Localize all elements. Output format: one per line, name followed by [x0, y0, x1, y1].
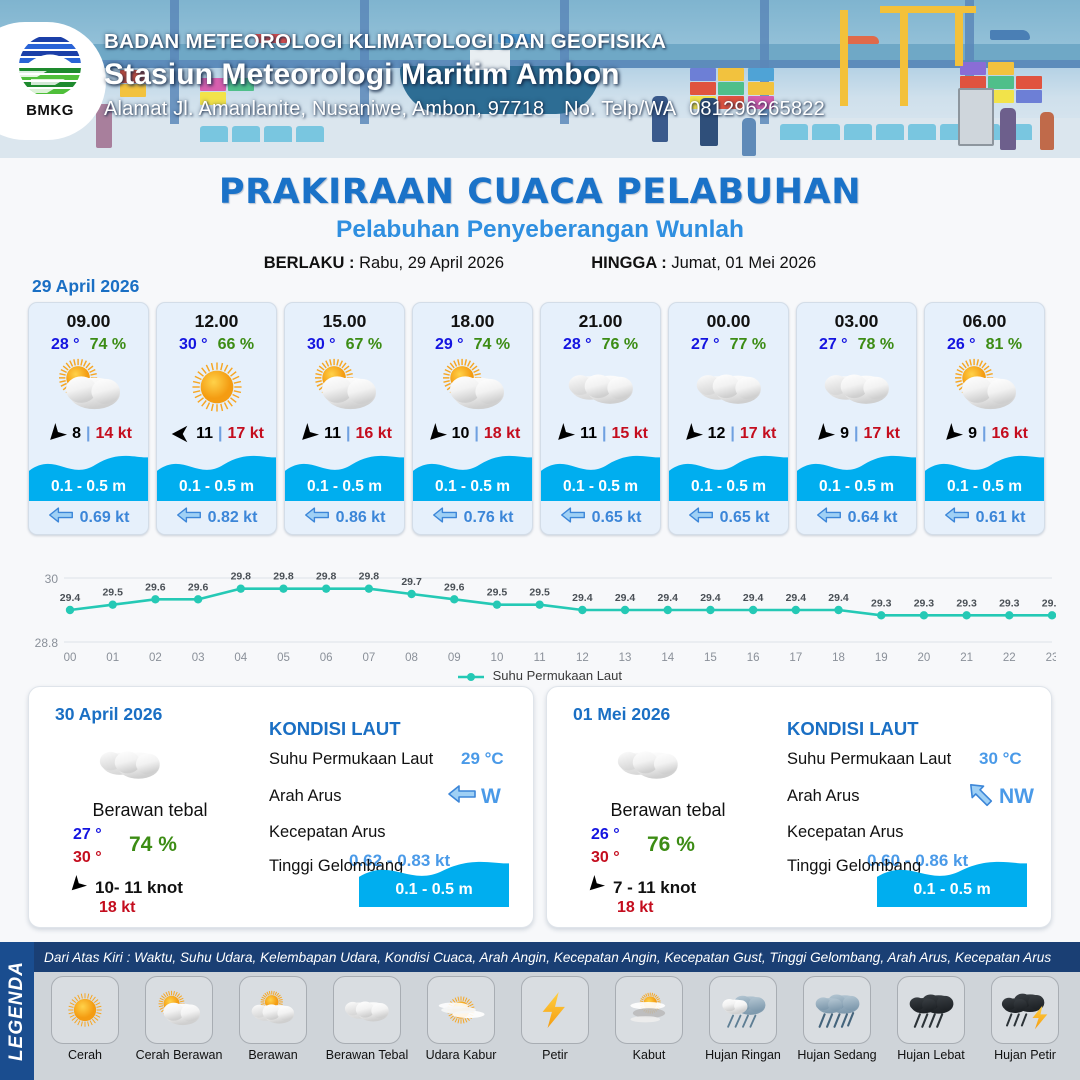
svg-text:07: 07: [362, 652, 375, 664]
weather-cloud-icon: [797, 356, 916, 418]
waiting-chair: [780, 124, 808, 140]
legend-item: Berawan: [228, 976, 318, 1080]
panel-temp-max: 30 °: [73, 849, 102, 867]
wind-gust: 16 kt: [991, 425, 1027, 443]
card-wind: 11 | 17 kt: [157, 419, 276, 449]
weather-rain-storm-icon: [991, 976, 1059, 1044]
current-speed: 0.86 kt: [336, 509, 386, 527]
legend-item-label: Berawan Tebal: [326, 1048, 408, 1062]
valid-from-label: BERLAKU :: [264, 254, 355, 272]
infographic-page: BMKG BADAN METEOROLOGI KLIMATOLOGI DAN G…: [0, 0, 1080, 1080]
legend-icon-row: Cerah Cerah Berawan Berawan Berawan Teba…: [40, 976, 1074, 1080]
current-direction-value: W: [481, 785, 501, 809]
wind-gust: 18 kt: [484, 425, 520, 443]
svg-text:28.8: 28.8: [35, 636, 59, 650]
current-direction-arrow-icon: [688, 505, 714, 530]
hourly-date: 29 April 2026: [32, 276, 139, 297]
weather-cloud-icon: [541, 356, 660, 418]
current-direction-label: Arah Arus: [269, 787, 341, 806]
legend-sidebar: LEGENDA: [0, 942, 34, 1080]
weather-cloud-icon: [87, 735, 173, 791]
wind-direction-arrow-icon: [297, 423, 319, 445]
current-direction-arrow-icon: [816, 505, 842, 530]
current-speed: 0.65 kt: [720, 509, 770, 527]
card-wave: 0.1 - 0.5 m: [669, 449, 788, 501]
hourly-card: 03.00 27 ° 78 % 9 | 17 kt 0.1 - 0.5 m 0.…: [796, 302, 917, 535]
weather-cloud-icon: [333, 976, 401, 1044]
svg-text:08: 08: [405, 652, 418, 664]
agency-name: BADAN METEOROLOGI KLIMATOLOGI DAN GEOFIS…: [104, 30, 825, 54]
weather-cloud-icon: [669, 356, 788, 418]
page-header: BMKG BADAN METEOROLOGI KLIMATOLOGI DAN G…: [0, 0, 1080, 158]
svg-text:17: 17: [789, 652, 802, 664]
card-temperature: 27 °: [691, 336, 720, 354]
legend-item-label: Hujan Petir: [994, 1048, 1056, 1062]
wind-separator: |: [86, 425, 90, 443]
wave-height-value: 0.1 - 0.5 m: [359, 881, 509, 899]
weather-rain-light-icon: [709, 976, 777, 1044]
wind-separator: |: [982, 425, 986, 443]
card-temperature: 27 °: [819, 336, 848, 354]
legend-item: Cerah Berawan: [134, 976, 224, 1080]
wave-height: 0.1 - 0.5 m: [29, 478, 148, 496]
svg-text:16: 16: [747, 652, 760, 664]
container: [1016, 90, 1042, 103]
card-temp-humidity: 28 ° 74 %: [29, 336, 148, 354]
panel-wind-speed: 7 - 11 knot: [613, 878, 696, 898]
card-temperature: 30 °: [179, 336, 208, 354]
card-temperature: 30 °: [307, 336, 336, 354]
svg-text:29.8: 29.8: [316, 571, 337, 583]
waiting-chair: [232, 126, 260, 142]
wind-speed: 11: [324, 425, 341, 443]
weather-sun-icon: [51, 976, 119, 1044]
wave-height-graphic: 0.1 - 0.5 m: [359, 853, 509, 907]
wave-height-graphic: 0.1 - 0.5 m: [877, 853, 1027, 907]
svg-text:29.3: 29.3: [871, 597, 892, 609]
svg-text:18: 18: [832, 652, 845, 664]
svg-text:04: 04: [234, 652, 247, 664]
wind-speed: 10: [452, 425, 470, 443]
svg-text:21: 21: [960, 652, 973, 664]
waiting-chair: [264, 126, 292, 142]
wind-gust: 16 kt: [355, 425, 391, 443]
panel-wind: 10- 11 knot: [67, 875, 183, 900]
bmkg-logo-text: BMKG: [26, 102, 74, 119]
weather-sun-icon: [157, 356, 276, 418]
svg-text:29.3: 29.3: [1042, 597, 1056, 609]
card-wind: 9 | 17 kt: [797, 419, 916, 449]
svg-text:30: 30: [45, 572, 59, 586]
legend-item: Hujan Petir: [980, 976, 1070, 1080]
wind-direction-arrow-icon: [941, 423, 963, 445]
legend-note: Dari Atas Kiri : Waktu, Suhu Udara, Kele…: [44, 950, 1051, 965]
card-temp-humidity: 30 ° 66 %: [157, 336, 276, 354]
card-wave: 0.1 - 0.5 m: [29, 449, 148, 501]
person-silhouette: [1040, 112, 1054, 150]
phone-label: No. Telp/WA: [564, 98, 675, 120]
page-subtitle: Pelabuhan Penyeberangan Wunlah: [0, 216, 1080, 244]
sea-condition-heading: KONDISI LAUT: [787, 718, 919, 740]
svg-text:29.4: 29.4: [60, 592, 81, 604]
card-current: 0.69 kt: [29, 501, 148, 534]
wave-height: 0.1 - 0.5 m: [925, 478, 1044, 496]
sst-label: Suhu Permukaan Laut: [787, 750, 951, 769]
card-wind: 8 | 14 kt: [29, 419, 148, 449]
hourly-card: 18.00 29 ° 74 % 10 | 18 kt 0.1 - 0.5 m 0…: [412, 302, 533, 535]
svg-text:29.7: 29.7: [401, 576, 422, 588]
wind-direction-arrow-icon: [169, 423, 191, 445]
valid-until-value: Jumat, 01 Mei 2026: [671, 254, 816, 272]
svg-text:10: 10: [491, 652, 504, 664]
container: [960, 62, 986, 75]
wave-height: 0.1 - 0.5 m: [413, 478, 532, 496]
panel-humidity: 74 %: [129, 833, 177, 857]
card-humidity: 76 %: [602, 336, 638, 354]
wind-direction-arrow-icon: [813, 423, 835, 445]
wave-height: 0.1 - 0.5 m: [285, 478, 404, 496]
wind-separator: |: [218, 425, 222, 443]
svg-text:29.4: 29.4: [615, 592, 636, 604]
svg-text:29.6: 29.6: [444, 581, 465, 593]
wave-height: 0.1 - 0.5 m: [669, 478, 788, 496]
hourly-card: 06.00 26 ° 81 % 9 | 16 kt 0.1 - 0.5 m 0.…: [924, 302, 1045, 535]
waiting-chair: [908, 124, 936, 140]
chart-legend-label: Suhu Permukaan Laut: [493, 668, 622, 683]
svg-text:29.3: 29.3: [956, 597, 977, 609]
wind-separator: |: [474, 425, 478, 443]
card-time: 00.00: [669, 303, 788, 332]
wind-separator: |: [730, 425, 734, 443]
legend-item: Kabut: [604, 976, 694, 1080]
panel-wind-speed: 10- 11 knot: [95, 878, 183, 898]
panel-condition: Berawan tebal: [563, 800, 773, 821]
svg-text:29.8: 29.8: [273, 571, 294, 583]
sst-label: Suhu Permukaan Laut: [269, 750, 433, 769]
legend-item: Hujan Sedang: [792, 976, 882, 1080]
weather-sun-cloud-icon: [29, 356, 148, 418]
wind-separator: |: [854, 425, 858, 443]
wave-height: 0.1 - 0.5 m: [541, 478, 660, 496]
current-direction-arrow-icon: [560, 505, 586, 530]
card-time: 12.00: [157, 303, 276, 332]
legend-item-label: Hujan Lebat: [897, 1048, 964, 1062]
wind-speed: 9: [840, 425, 849, 443]
valid-until-label: HINGGA :: [591, 254, 666, 272]
current-speed: 0.64 kt: [848, 509, 898, 527]
ship-silhouette: [990, 30, 1030, 40]
card-current: 0.65 kt: [669, 501, 788, 534]
svg-text:20: 20: [918, 652, 931, 664]
hourly-forecast-row: 09.00 28 ° 74 % 8 | 14 kt 0.1 - 0.5 m 0.…: [28, 302, 1052, 535]
svg-text:29.5: 29.5: [102, 587, 123, 599]
svg-text:01: 01: [106, 652, 119, 664]
hourly-card: 15.00 30 ° 67 % 11 | 16 kt 0.1 - 0.5 m 0…: [284, 302, 405, 535]
legend-note-bar: Dari Atas Kiri : Waktu, Suhu Udara, Kele…: [34, 942, 1080, 972]
current-speed-label: Kecepatan Arus: [269, 823, 386, 842]
legend-sidebar-title: LEGENDA: [6, 961, 28, 1061]
hourly-card: 21.00 28 ° 76 % 11 | 15 kt 0.1 - 0.5 m 0…: [540, 302, 661, 535]
weather-fog-icon: [615, 976, 683, 1044]
current-speed: 0.65 kt: [592, 509, 642, 527]
current-speed: 0.69 kt: [80, 509, 130, 527]
card-wind: 10 | 18 kt: [413, 419, 532, 449]
weather-bolt-icon: [521, 976, 589, 1044]
svg-text:09: 09: [448, 652, 461, 664]
svg-text:29.4: 29.4: [743, 592, 764, 604]
weather-sun-cloud-icon: [925, 356, 1044, 418]
svg-text:05: 05: [277, 652, 290, 664]
svg-text:02: 02: [149, 652, 162, 664]
wind-direction-arrow-icon: [45, 423, 67, 445]
card-current: 0.61 kt: [925, 501, 1044, 534]
legend-item-label: Udara Kabur: [426, 1048, 497, 1062]
card-current: 0.86 kt: [285, 501, 404, 534]
station-address: Alamat Jl. Amanlanite, Nusaniwe, Ambon, …: [104, 98, 544, 120]
panel-temp-max: 30 °: [591, 849, 620, 867]
legend-item: Petir: [510, 976, 600, 1080]
weather-rain-heavy-icon: [897, 976, 965, 1044]
card-humidity: 66 %: [218, 336, 254, 354]
wind-speed: 9: [968, 425, 977, 443]
wind-speed: 11: [580, 425, 597, 443]
card-humidity: 77 %: [730, 336, 766, 354]
current-speed: 0.76 kt: [464, 509, 514, 527]
sst-value: 29 °C: [461, 749, 504, 769]
current-direction-arrow-icon: [48, 505, 74, 530]
wind-gust: 14 kt: [95, 425, 131, 443]
crane-mast: [900, 6, 908, 106]
station-contact: Alamat Jl. Amanlanite, Nusaniwe, Ambon, …: [104, 98, 825, 121]
legend-item: Berawan Tebal: [322, 976, 412, 1080]
legend-marker: [458, 672, 484, 682]
card-current: 0.65 kt: [541, 501, 660, 534]
card-humidity: 78 %: [858, 336, 894, 354]
svg-text:29.5: 29.5: [529, 587, 550, 599]
current-speed: 0.61 kt: [976, 509, 1026, 527]
station-name: Stasiun Meteorologi Maritim Ambon: [104, 58, 825, 92]
svg-text:23: 23: [1046, 652, 1056, 664]
legend-item: Hujan Ringan: [698, 976, 788, 1080]
svg-text:06: 06: [320, 652, 333, 664]
ship-silhouette: [845, 36, 879, 44]
svg-text:19: 19: [875, 652, 888, 664]
svg-text:29.4: 29.4: [658, 592, 679, 604]
header-text-block: BADAN METEOROLOGI KLIMATOLOGI DAN GEOFIS…: [104, 30, 825, 121]
card-temp-humidity: 27 ° 77 %: [669, 336, 788, 354]
svg-text:29.4: 29.4: [700, 592, 721, 604]
legend-item-label: Hujan Ringan: [705, 1048, 781, 1062]
card-temperature: 28 °: [51, 336, 80, 354]
svg-text:29.4: 29.4: [828, 592, 849, 604]
wind-direction-arrow-icon: [681, 423, 703, 445]
svg-text:29.6: 29.6: [145, 581, 166, 593]
card-temperature: 28 °: [563, 336, 592, 354]
legend-section: LEGENDA Dari Atas Kiri : Waktu, Suhu Uda…: [0, 942, 1080, 1080]
svg-text:29.4: 29.4: [572, 592, 593, 604]
card-time: 15.00: [285, 303, 404, 332]
wave-height: 0.1 - 0.5 m: [157, 478, 276, 496]
panel-wind: 7 - 11 knot: [585, 875, 696, 900]
current-direction-value-group: W: [447, 783, 501, 810]
card-wind: 9 | 16 kt: [925, 419, 1044, 449]
person-silhouette: [742, 118, 756, 156]
card-time: 18.00: [413, 303, 532, 332]
card-wind: 11 | 15 kt: [541, 419, 660, 449]
card-temp-humidity: 27 ° 78 %: [797, 336, 916, 354]
svg-text:29.4: 29.4: [786, 592, 807, 604]
card-humidity: 67 %: [346, 336, 382, 354]
card-humidity: 74 %: [90, 336, 126, 354]
hourly-card: 12.00 30 ° 66 % 11 | 17 kt 0.1 - 0.5 m 0…: [156, 302, 277, 535]
card-current: 0.82 kt: [157, 501, 276, 534]
svg-text:22: 22: [1003, 652, 1016, 664]
legend-item: Udara Kabur: [416, 976, 506, 1080]
wind-direction-arrow-icon: [553, 423, 575, 445]
svg-text:14: 14: [661, 652, 674, 664]
current-speed-label: Kecepatan Arus: [787, 823, 904, 842]
wind-direction-arrow-icon: [585, 875, 605, 900]
person-silhouette: [1000, 108, 1016, 150]
legend-item-label: Kabut: [633, 1048, 666, 1062]
panel-date: 01 Mei 2026: [573, 704, 670, 725]
card-time: 09.00: [29, 303, 148, 332]
phone-number: 081296265822: [689, 98, 825, 120]
wave-height: 0.1 - 0.5 m: [797, 478, 916, 496]
current-direction-arrow-icon: [432, 505, 458, 530]
daily-panels: 30 April 2026 Berawan tebal 27 ° 30 ° 74…: [28, 686, 1052, 928]
info-display: [958, 88, 994, 146]
weather-sun-cloud-icon: [413, 356, 532, 418]
container: [1016, 76, 1042, 89]
legend-item-label: Petir: [542, 1048, 568, 1062]
card-humidity: 81 %: [986, 336, 1022, 354]
card-temperature: 26 °: [947, 336, 976, 354]
waiting-chair: [296, 126, 324, 142]
weather-haze-icon: [427, 976, 495, 1044]
weather-cloud-icon: [605, 735, 691, 791]
weather-rain-med-icon: [803, 976, 871, 1044]
page-title: PRAKIRAAN CUACA PELABUHAN: [0, 172, 1080, 212]
wind-speed: 8: [72, 425, 81, 443]
card-temp-humidity: 29 ° 74 %: [413, 336, 532, 354]
current-direction-arrow-icon: [304, 505, 330, 530]
svg-text:03: 03: [192, 652, 205, 664]
legend-item: Hujan Lebat: [886, 976, 976, 1080]
svg-text:13: 13: [619, 652, 632, 664]
wind-separator: |: [346, 425, 350, 443]
weather-sun-cloud-icon: [285, 356, 404, 418]
daily-summary-panel: 01 Mei 2026 Berawan tebal 26 ° 30 ° 76 %…: [546, 686, 1052, 928]
card-time: 06.00: [925, 303, 1044, 332]
svg-text:29.3: 29.3: [914, 597, 935, 609]
current-direction-value-group: NW: [965, 783, 1034, 810]
card-wave: 0.1 - 0.5 m: [925, 449, 1044, 501]
current-direction-arrow-icon: [965, 783, 995, 810]
panel-gust: 18 kt: [617, 899, 653, 917]
crane-mast: [955, 6, 963, 66]
validity-line: BERLAKU : Rabu, 29 April 2026 HINGGA : J…: [0, 254, 1080, 273]
card-wave: 0.1 - 0.5 m: [285, 449, 404, 501]
bmkg-logo-mark: [17, 35, 83, 101]
current-direction-arrow-icon: [176, 505, 202, 530]
current-speed: 0.82 kt: [208, 509, 258, 527]
card-time: 03.00: [797, 303, 916, 332]
svg-text:29.5: 29.5: [487, 587, 508, 599]
legend-item: Cerah: [40, 976, 130, 1080]
svg-text:29.8: 29.8: [359, 571, 380, 583]
hourly-card: 09.00 28 ° 74 % 8 | 14 kt 0.1 - 0.5 m 0.…: [28, 302, 149, 535]
wind-direction-arrow-icon: [425, 423, 447, 445]
waiting-chair: [200, 126, 228, 142]
card-temp-humidity: 28 ° 76 %: [541, 336, 660, 354]
current-direction-arrow-icon: [944, 505, 970, 530]
wind-gust: 17 kt: [740, 425, 776, 443]
weather-sun-cloud2-icon: [239, 976, 307, 1044]
container: [988, 62, 1014, 75]
panel-humidity: 76 %: [647, 833, 695, 857]
valid-from-value: Rabu, 29 April 2026: [359, 254, 504, 272]
svg-text:15: 15: [704, 652, 717, 664]
legend-item-label: Hujan Sedang: [797, 1048, 876, 1062]
wind-speed: 11: [196, 425, 213, 443]
current-direction-arrow-icon: [447, 783, 477, 810]
card-temperature: 29 °: [435, 336, 464, 354]
waiting-chair: [844, 124, 872, 140]
wind-gust: 15 kt: [611, 425, 647, 443]
card-wind: 11 | 16 kt: [285, 419, 404, 449]
legend-item-label: Cerah Berawan: [136, 1048, 223, 1062]
sst-chart: 3028.829.40029.50129.60229.60329.80429.8…: [24, 560, 1056, 680]
card-temp-humidity: 26 ° 81 %: [925, 336, 1044, 354]
waiting-chair: [812, 124, 840, 140]
svg-text:29.3: 29.3: [999, 597, 1020, 609]
card-wind: 12 | 17 kt: [669, 419, 788, 449]
wind-gust: 17 kt: [227, 425, 263, 443]
weather-sun-cloud-icon: [145, 976, 213, 1044]
panel-temp-min: 26 °: [591, 826, 620, 844]
card-current: 0.76 kt: [413, 501, 532, 534]
panel-date: 30 April 2026: [55, 704, 162, 725]
crane-leg: [840, 10, 848, 106]
wind-speed: 12: [708, 425, 726, 443]
svg-text:00: 00: [64, 652, 77, 664]
wind-separator: |: [602, 425, 606, 443]
card-wave: 0.1 - 0.5 m: [541, 449, 660, 501]
svg-text:29.6: 29.6: [188, 581, 209, 593]
svg-text:29.8: 29.8: [231, 571, 252, 583]
title-block: PRAKIRAAN CUACA PELABUHAN Pelabuhan Peny…: [0, 158, 1080, 273]
card-time: 21.00: [541, 303, 660, 332]
hourly-card: 00.00 27 ° 77 % 12 | 17 kt 0.1 - 0.5 m 0…: [668, 302, 789, 535]
wind-gust: 17 kt: [863, 425, 899, 443]
chart-legend: Suhu Permukaan Laut: [0, 668, 1080, 683]
card-current: 0.64 kt: [797, 501, 916, 534]
card-humidity: 74 %: [474, 336, 510, 354]
sea-condition-heading: KONDISI LAUT: [269, 718, 401, 740]
svg-text:12: 12: [576, 652, 589, 664]
svg-text:11: 11: [534, 652, 546, 664]
legend-item-label: Cerah: [68, 1048, 102, 1062]
panel-gust: 18 kt: [99, 899, 135, 917]
daily-summary-panel: 30 April 2026 Berawan tebal 27 ° 30 ° 74…: [28, 686, 534, 928]
current-direction-label: Arah Arus: [787, 787, 859, 806]
wind-direction-arrow-icon: [67, 875, 87, 900]
wave-height-value: 0.1 - 0.5 m: [877, 881, 1027, 899]
card-temp-humidity: 30 ° 67 %: [285, 336, 404, 354]
waiting-chair: [876, 124, 904, 140]
current-direction-value: NW: [999, 785, 1034, 809]
